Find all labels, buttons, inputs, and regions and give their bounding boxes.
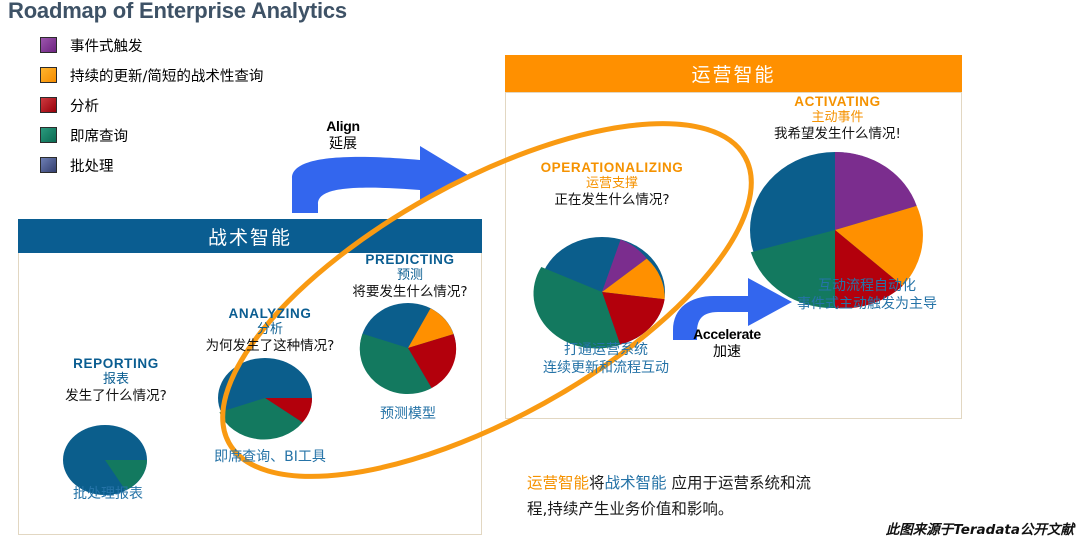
footer-term-tactical: 战术智能 bbox=[605, 474, 667, 492]
stage-predicting-en: PREDICTING bbox=[330, 252, 490, 268]
stage-analyzing-en: ANALYZING bbox=[180, 306, 360, 322]
legend-item-analysis: 分析 bbox=[40, 90, 460, 120]
legend: 事件式触发 持续的更新/简短的战术性查询 分析 即席查询 批处理 bbox=[40, 30, 460, 180]
footer-conn-1: 将 bbox=[589, 474, 605, 492]
caption-operationalizing-line1: 打通运营系统 bbox=[521, 341, 691, 359]
accelerate-label: Accelerate 加速 bbox=[672, 326, 782, 361]
stage-predicting-question: 将要发生什么情况? bbox=[330, 284, 490, 301]
page-title: Roadmap of Enterprise Analytics bbox=[8, 0, 347, 24]
accelerate-label-cn: 加速 bbox=[672, 343, 782, 361]
stage-operationalizing: OPERATIONALIZING 运营支撑 正在发生什么情况? bbox=[512, 160, 712, 209]
caption-operationalizing: 打通运营系统 连续更新和流程互动 bbox=[521, 341, 691, 377]
legend-item-batch: 批处理 bbox=[40, 150, 460, 180]
stage-analyzing-cn: 分析 bbox=[180, 322, 360, 338]
stage-activating-en: ACTIVATING bbox=[740, 94, 935, 110]
tactical-intelligence-header: 战术智能 bbox=[18, 219, 482, 253]
legend-label-batch: 批处理 bbox=[70, 155, 114, 176]
legend-item-adhoc-query: 即席查询 bbox=[40, 120, 460, 150]
legend-item-event-trigger: 事件式触发 bbox=[40, 30, 460, 60]
legend-swatch-adhoc-query bbox=[40, 127, 57, 143]
caption-activating-line1: 互动流程自动化 bbox=[762, 277, 972, 295]
legend-label-continuous-update: 持续的更新/简短的战术性查询 bbox=[70, 65, 263, 86]
legend-swatch-analysis bbox=[40, 97, 57, 113]
stage-activating-question: 我希望发生什么情况! bbox=[740, 126, 935, 143]
operational-intelligence-header: 运营智能 bbox=[505, 55, 962, 92]
footer-note: 运营智能将战术智能 应用于运营系统和流 程,持续产生业务价值和影响。 bbox=[527, 470, 1007, 522]
legend-item-continuous-update: 持续的更新/简短的战术性查询 bbox=[40, 60, 460, 90]
legend-swatch-batch bbox=[40, 157, 57, 173]
stage-analyzing-question: 为何发生了这种情况? bbox=[180, 338, 360, 355]
caption-predicting: 预测模型 bbox=[333, 405, 483, 423]
accelerate-label-en: Accelerate bbox=[672, 326, 782, 343]
caption-analyzing: 即席查询、BI工具 bbox=[175, 448, 365, 466]
legend-label-analysis: 分析 bbox=[70, 95, 99, 116]
caption-activating-line2: 事件式主动触发为主导 bbox=[762, 295, 972, 313]
stage-reporting-cn: 报表 bbox=[36, 372, 196, 388]
stage-reporting-en: REPORTING bbox=[36, 356, 196, 372]
align-label: Align 延展 bbox=[298, 118, 388, 153]
footer-term-operational: 运营智能 bbox=[527, 474, 589, 492]
stage-operationalizing-question: 正在发生什么情况? bbox=[512, 192, 712, 209]
stage-operationalizing-en: OPERATIONALIZING bbox=[512, 160, 712, 176]
stage-reporting: REPORTING 报表 发生了什么情况? bbox=[36, 356, 196, 405]
legend-label-event-trigger: 事件式触发 bbox=[70, 35, 143, 56]
footer-rest-1: 应用于运营系统和流 bbox=[667, 474, 811, 492]
footer-source: 此图来源于Teradata公开文献 bbox=[886, 518, 1074, 538]
stage-operationalizing-cn: 运营支撑 bbox=[512, 176, 712, 192]
stage-analyzing: ANALYZING 分析 为何发生了这种情况? bbox=[180, 306, 360, 355]
stage-activating: ACTIVATING 主动事件 我希望发生什么情况! bbox=[740, 94, 935, 143]
align-label-cn: 延展 bbox=[298, 135, 388, 153]
stage-predicting-cn: 预测 bbox=[330, 268, 490, 284]
legend-label-adhoc-query: 即席查询 bbox=[70, 125, 128, 146]
stage-predicting: PREDICTING 预测 将要发生什么情况? bbox=[330, 252, 490, 301]
caption-activating: 互动流程自动化 事件式主动触发为主导 bbox=[762, 277, 972, 313]
caption-reporting: 批处理报表 bbox=[28, 485, 188, 503]
footer-note-line1: 运营智能将战术智能 应用于运营系统和流 bbox=[527, 470, 1007, 496]
legend-swatch-continuous-update bbox=[40, 67, 57, 83]
stage-activating-cn: 主动事件 bbox=[740, 110, 935, 126]
align-label-en: Align bbox=[298, 118, 388, 135]
legend-swatch-event-trigger bbox=[40, 37, 57, 53]
stage-reporting-question: 发生了什么情况? bbox=[36, 388, 196, 405]
caption-operationalizing-line2: 连续更新和流程互动 bbox=[521, 359, 691, 377]
